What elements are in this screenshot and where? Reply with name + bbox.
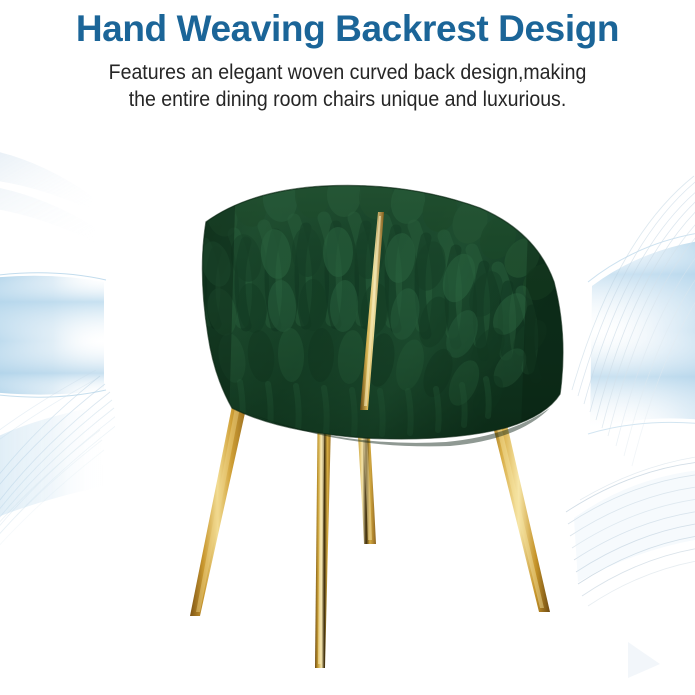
chair-upholstered-shell: [190, 170, 580, 460]
promo-banner: Hand Weaving Backrest Design Features an…: [0, 0, 695, 695]
subtitle-line-1: Features an elegant woven curved back de…: [24, 59, 670, 86]
page-subtitle: Features an elegant woven curved back de…: [24, 51, 670, 113]
subtitle-line-2: the entire dining room chairs unique and…: [24, 86, 670, 113]
header-block: Hand Weaving Backrest Design Features an…: [0, 0, 695, 113]
woven-braid-texture: [190, 170, 580, 460]
product-image: [0, 130, 695, 695]
page-title: Hand Weaving Backrest Design: [0, 0, 695, 51]
chair-illustration: [0, 130, 695, 695]
